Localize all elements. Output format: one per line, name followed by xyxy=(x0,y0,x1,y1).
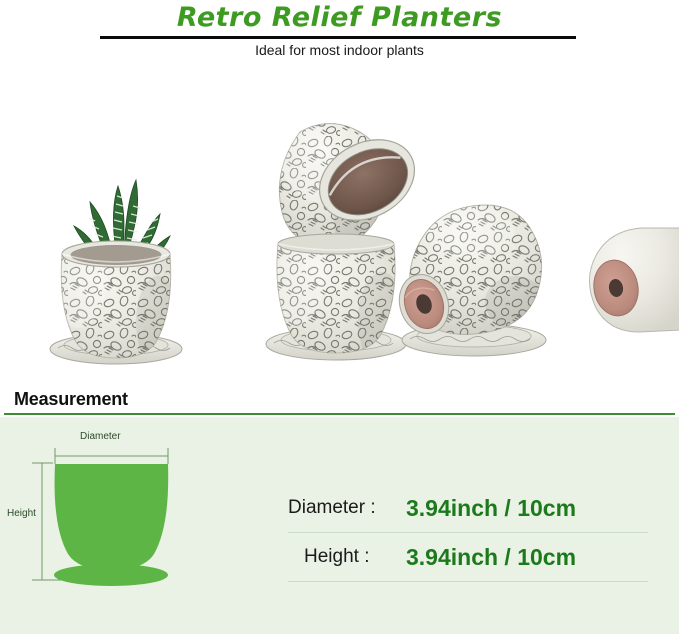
diameter-dimension-label: Diameter xyxy=(80,431,121,442)
spec-label-height: Height : xyxy=(288,546,392,568)
measurement-spec-list: Diameter : 3.94inch / 10cm Height : 3.94… xyxy=(288,484,648,582)
pot-body-shape xyxy=(55,464,169,570)
pot-dimension-diagram: Diameter Height xyxy=(20,430,260,595)
title-divider xyxy=(100,36,576,39)
page-title: Retro Relief Planters xyxy=(0,2,679,33)
spec-row-height: Height : 3.94inch / 10cm xyxy=(288,533,648,582)
page-header: Retro Relief Planters Ideal for most ind… xyxy=(0,0,679,70)
pot-saucer-shape xyxy=(54,564,168,586)
page-subtitle: Ideal for most indoor plants xyxy=(0,42,679,58)
spec-label-diameter: Diameter : xyxy=(288,497,392,519)
spec-row-diameter: Diameter : 3.94inch / 10cm xyxy=(288,484,648,533)
spec-value-height: 3.94inch / 10cm xyxy=(406,544,576,571)
spec-value-diameter: 3.94inch / 10cm xyxy=(406,495,576,522)
measurement-heading: Measurement xyxy=(14,389,128,410)
height-dimension-label: Height xyxy=(7,508,36,519)
diameter-dimension-line xyxy=(55,448,168,464)
measurement-divider xyxy=(4,413,675,415)
product-photo xyxy=(0,72,679,382)
